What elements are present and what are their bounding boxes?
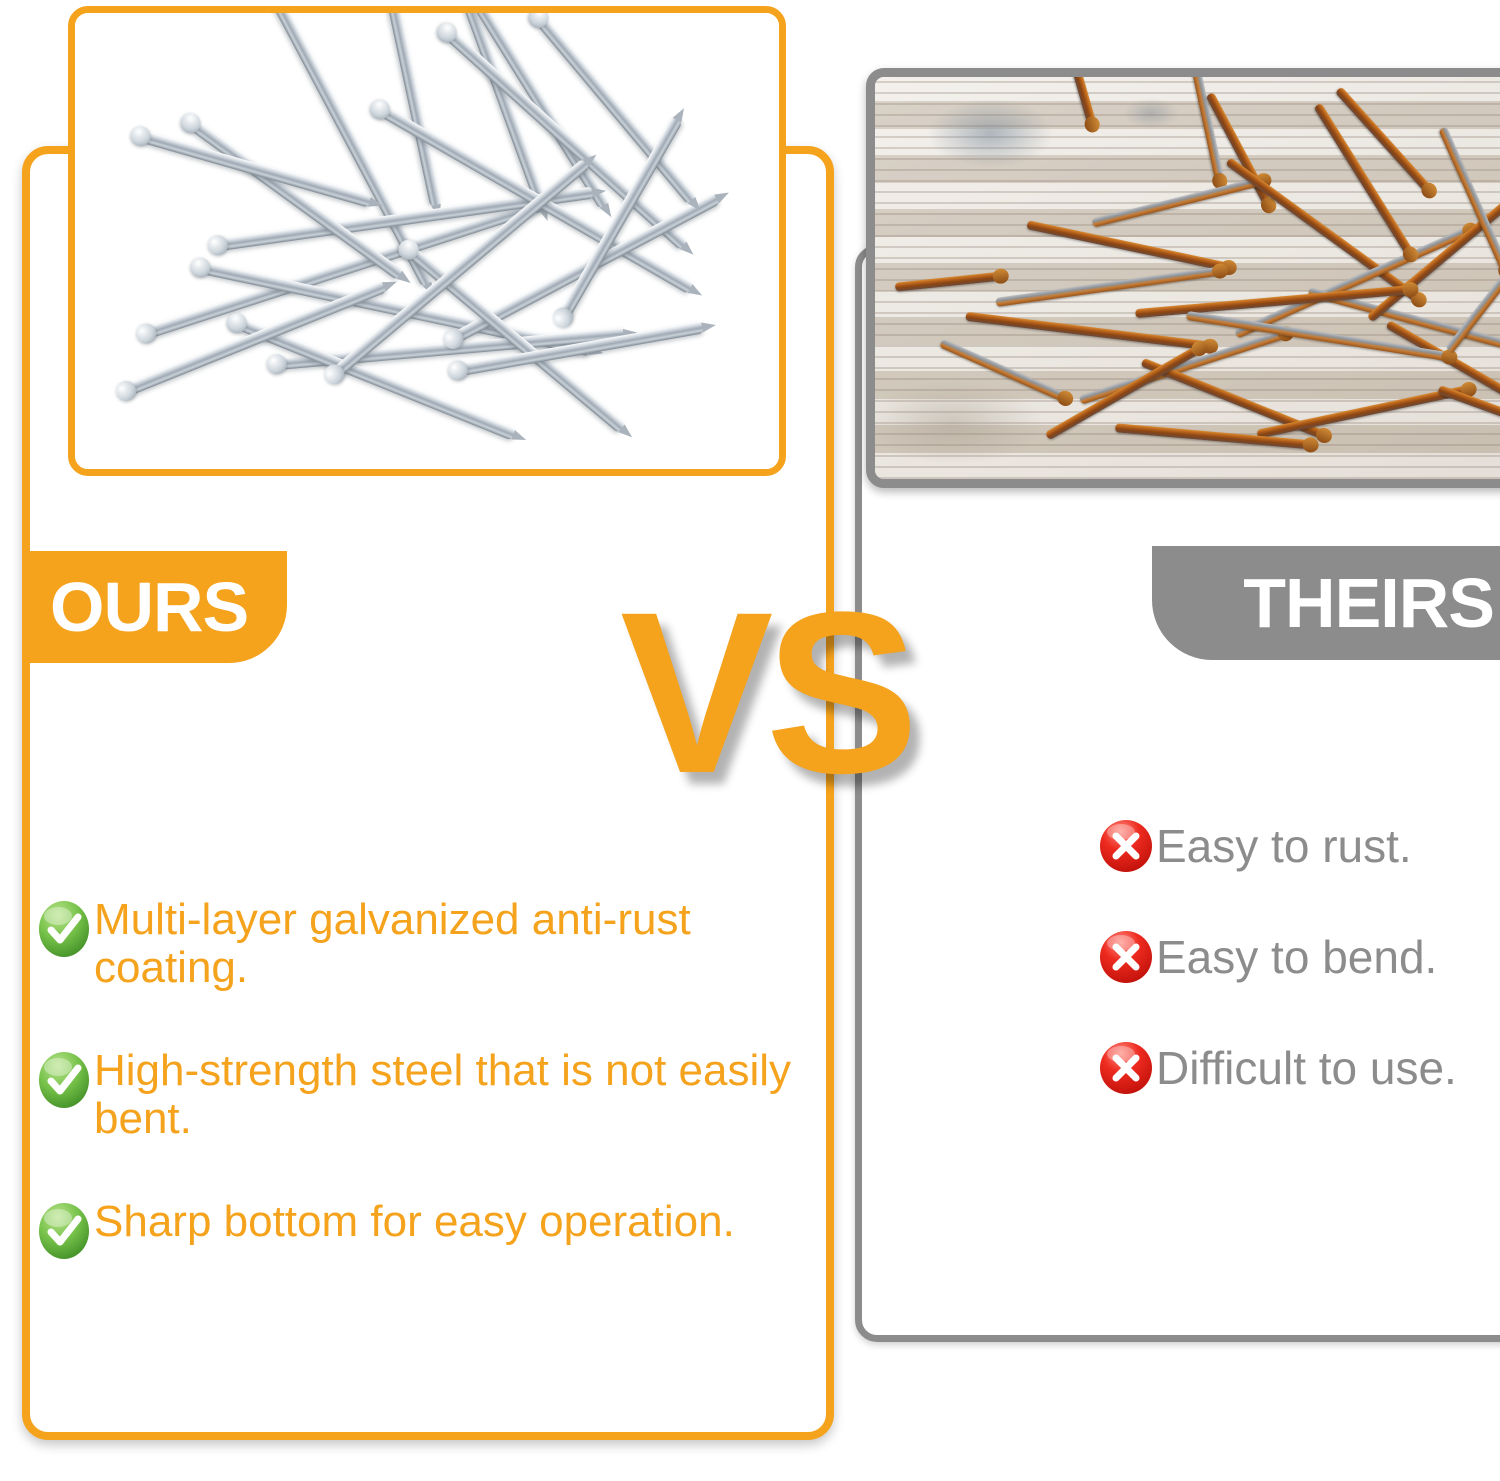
galvanized-nails-photo <box>75 13 779 469</box>
drawback-text: Easy to bend. <box>1154 933 1437 981</box>
list-item: Difficult to use. <box>1098 1040 1498 1096</box>
feature-text: Sharp bottom for easy operation. <box>92 1198 735 1246</box>
rusty-nails-photo <box>875 77 1500 479</box>
list-item: Easy to bend. <box>1098 929 1498 985</box>
ours-feature-list: Multi-layer galvanized anti-rust coating… <box>36 896 826 1260</box>
vs-label: VS <box>620 578 911 808</box>
ours-badge-label: OURS <box>50 572 248 642</box>
drawback-text: Easy to rust. <box>1154 822 1412 870</box>
theirs-drawback-list: Easy to rust. Easy to bend. Difficul <box>1098 818 1498 1096</box>
feature-text: Multi-layer galvanized anti-rust coating… <box>92 896 812 991</box>
theirs-photo-frame <box>866 68 1500 488</box>
feature-text: High-strength steel that is not easily b… <box>92 1047 812 1142</box>
x-circle-icon <box>1098 818 1154 874</box>
theirs-badge: THEIRS <box>1152 546 1500 660</box>
check-circle-icon <box>36 1202 92 1260</box>
x-circle-icon <box>1098 929 1154 985</box>
list-item: Multi-layer galvanized anti-rust coating… <box>36 896 826 991</box>
ours-badge: OURS <box>22 551 287 663</box>
x-circle-icon <box>1098 1040 1154 1096</box>
ours-photo-frame <box>68 6 786 476</box>
check-circle-icon <box>36 900 92 958</box>
list-item: Sharp bottom for easy operation. <box>36 1198 826 1260</box>
check-circle-icon <box>36 1051 92 1109</box>
drawback-text: Difficult to use. <box>1154 1044 1457 1092</box>
list-item: Easy to rust. <box>1098 818 1498 874</box>
theirs-badge-label: THEIRS <box>1243 568 1494 638</box>
comparison-infographic: OURS THEIRS VS <box>0 0 1500 1481</box>
list-item: High-strength steel that is not easily b… <box>36 1047 826 1142</box>
rusty-nail-pile <box>875 77 1500 479</box>
